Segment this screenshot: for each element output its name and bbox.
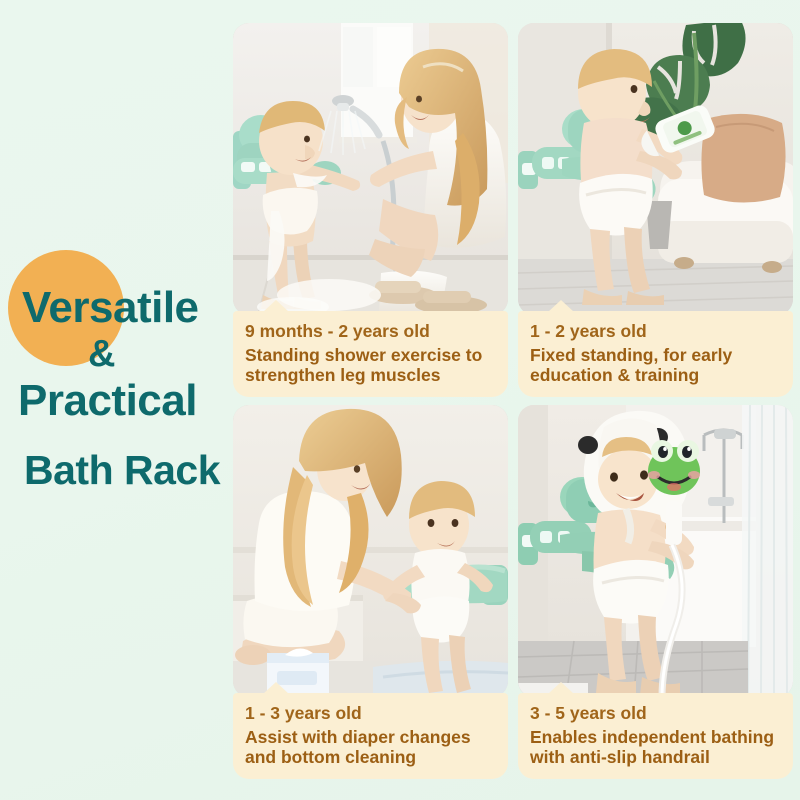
headline-line-ampersand: &: [88, 335, 115, 373]
caption-age-range: 1 - 3 years old: [245, 703, 496, 723]
photo-toddler-drinking-bottle: [518, 23, 793, 315]
caption-description: Enables independent bathing with anti-sl…: [530, 728, 781, 767]
caption-notch-triangle: [263, 682, 289, 694]
caption-age-range: 1 - 2 years old: [530, 321, 781, 341]
caption-notch-triangle: [548, 300, 574, 312]
headline-line-versatile: Versatile: [22, 286, 199, 330]
caption-card: 1 - 2 years old Fixed standing, for earl…: [518, 311, 793, 397]
headline-block: Versatile & Practical Bath Rack: [0, 236, 232, 516]
poster-canvas: Versatile & Practical Bath Rack: [0, 0, 800, 800]
caption-notch-triangle: [548, 682, 574, 694]
caption-card: 9 months - 2 years old Standing shower e…: [233, 311, 508, 397]
caption-description: Standing shower exercise to strengthen l…: [245, 346, 496, 385]
feature-card-fixed-standing: 1 - 2 years old Fixed standing, for earl…: [518, 23, 793, 397]
caption-card: 1 - 3 years old Assist with diaper chang…: [233, 693, 508, 779]
headline-line-practical: Practical: [18, 379, 197, 423]
caption-description: Fixed standing, for early education & tr…: [530, 346, 781, 385]
caption-age-range: 3 - 5 years old: [530, 703, 781, 723]
photo-mother-showering-toddler: [233, 23, 508, 315]
caption-description: Assist with diaper changes and bottom cl…: [245, 728, 496, 767]
photo-mother-helping-toddler: [233, 405, 508, 697]
photo-toddler-frog-shower-head: [518, 405, 793, 697]
feature-card-diaper-changes: 1 - 3 years old Assist with diaper chang…: [233, 405, 508, 779]
caption-notch-triangle: [263, 300, 289, 312]
feature-card-independent-bathing: 3 - 5 years old Enables independent bath…: [518, 405, 793, 779]
feature-card-standing-shower: 9 months - 2 years old Standing shower e…: [233, 23, 508, 397]
headline-line-bath-rack: Bath Rack: [24, 450, 220, 491]
caption-card: 3 - 5 years old Enables independent bath…: [518, 693, 793, 779]
caption-age-range: 9 months - 2 years old: [245, 321, 496, 341]
